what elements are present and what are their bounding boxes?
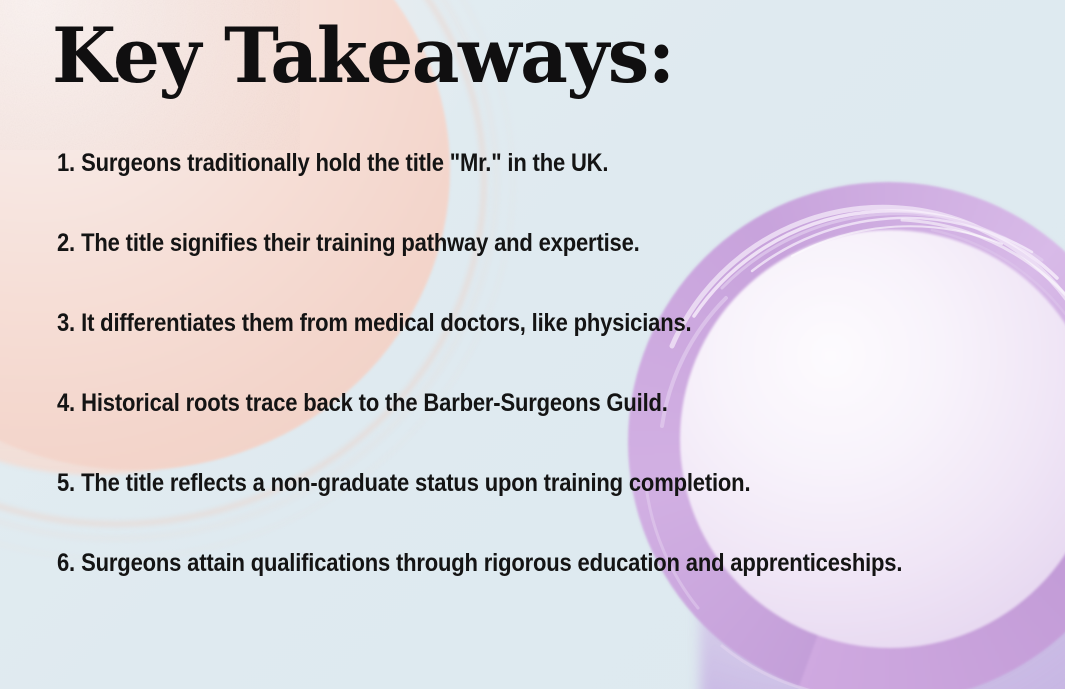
list-item-text: Surgeons attain qualifications through r… <box>81 548 902 578</box>
list-item-number: 2. <box>57 228 75 258</box>
key-takeaways-poster: Key Takeaways: 1. Surgeons traditionally… <box>0 0 1065 689</box>
list-item-text: The title signifies their training pathw… <box>81 228 639 258</box>
list-item-number: 5. <box>57 468 75 498</box>
list-item: 3. It differentiates them from medical d… <box>57 308 919 388</box>
list-item: 2. The title signifies their training pa… <box>57 228 919 308</box>
list-item-number: 4. <box>57 388 75 418</box>
page-title: Key Takeaways: <box>52 18 674 94</box>
poster-content: Key Takeaways: 1. Surgeons traditionally… <box>0 0 1065 689</box>
list-item-number: 6. <box>57 548 75 578</box>
takeaways-list: 1. Surgeons traditionally hold the title… <box>57 148 1037 628</box>
list-item-text: Historical roots trace back to the Barbe… <box>81 388 668 418</box>
list-item-number: 3. <box>57 308 75 338</box>
list-item: 1. Surgeons traditionally hold the title… <box>57 148 919 228</box>
list-item-text: It differentiates them from medical doct… <box>81 308 691 338</box>
list-item: 4. Historical roots trace back to the Ba… <box>57 388 919 468</box>
list-item-text: Surgeons traditionally hold the title "M… <box>81 148 608 178</box>
list-item: 6. Surgeons attain qualifications throug… <box>57 548 919 628</box>
list-item-number: 1. <box>57 148 75 178</box>
list-item: 5. The title reflects a non-graduate sta… <box>57 468 919 548</box>
list-item-text: The title reflects a non-graduate status… <box>81 468 750 498</box>
